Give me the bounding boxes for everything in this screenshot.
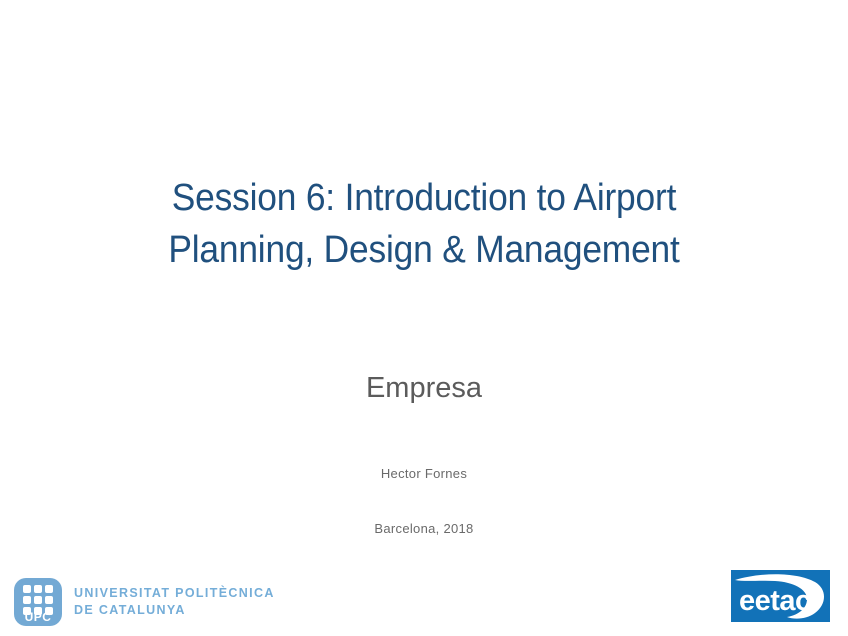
page-title-line-1: Session 6: Introduction to Airport bbox=[30, 172, 819, 224]
upc-dot bbox=[23, 585, 31, 593]
eetac-wordmark-label: eetac bbox=[739, 585, 811, 617]
presentation-title-slide: Session 6: Introduction to Airport Plann… bbox=[0, 0, 848, 636]
upc-dot bbox=[34, 596, 42, 604]
upc-dot bbox=[45, 585, 53, 593]
author-name: Hector Fornes bbox=[0, 466, 848, 481]
upc-wordmark-line-1: UNIVERSITAT POLITÈCNICA bbox=[74, 585, 275, 602]
page-title-line-2: Planning, Design & Management bbox=[30, 224, 819, 276]
upc-logo: UPC UNIVERSITAT POLITÈCNICA DE CATALUNYA bbox=[14, 578, 275, 626]
page-subtitle: Empresa bbox=[0, 370, 848, 406]
upc-mark-icon: UPC bbox=[14, 578, 62, 626]
upc-dot bbox=[45, 596, 53, 604]
upc-wordmark-line-2: DE CATALUNYA bbox=[74, 602, 275, 619]
eetac-logo-graphic: eetac bbox=[731, 570, 830, 622]
eetac-logo: eetac bbox=[731, 570, 830, 622]
page-title: Session 6: Introduction to Airport Plann… bbox=[0, 172, 848, 276]
place-and-year: Barcelona, 2018 bbox=[0, 521, 848, 536]
upc-wordmark: UNIVERSITAT POLITÈCNICA DE CATALUNYA bbox=[74, 585, 275, 619]
upc-dot bbox=[23, 596, 31, 604]
upc-acronym-label: UPC bbox=[14, 611, 62, 624]
upc-dot bbox=[34, 585, 42, 593]
